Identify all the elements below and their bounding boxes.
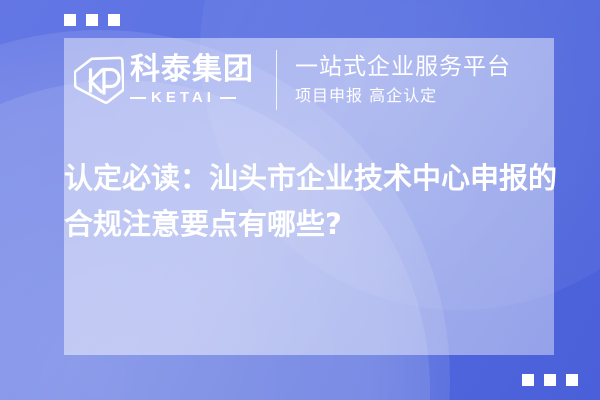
decorative-squares-bottom-right <box>522 374 578 386</box>
banner-canvas: 科泰集团 KETAI 一站式企业服务平台 项目申报 高企认定 认定必读：汕头市企… <box>0 0 600 400</box>
square-icon <box>522 374 534 386</box>
square-icon <box>108 14 120 26</box>
content-card: 科泰集团 KETAI 一站式企业服务平台 项目申报 高企认定 认定必读：汕头市企… <box>64 38 554 355</box>
brand-name-cn: 科泰集团 <box>130 55 254 85</box>
decorative-squares-top-left <box>64 14 120 26</box>
brand-name-en-row: KETAI <box>130 90 254 105</box>
tagline-block: 一站式企业服务平台 项目申报 高企认定 <box>295 54 511 105</box>
rule-left-icon <box>130 97 146 99</box>
brand-header: 科泰集团 KETAI 一站式企业服务平台 项目申报 高企认定 <box>74 46 511 114</box>
square-icon <box>544 374 556 386</box>
tagline: 一站式企业服务平台 <box>295 54 511 81</box>
brand-name-en: KETAI <box>151 90 215 105</box>
ketai-kd-monogram-icon <box>74 55 124 105</box>
rule-right-icon <box>220 97 236 99</box>
square-icon <box>64 14 76 26</box>
brand-wordmark: 科泰集团 KETAI <box>130 55 254 105</box>
square-icon <box>566 374 578 386</box>
subtagline: 项目申报 高企认定 <box>295 86 511 105</box>
header-divider <box>276 50 277 110</box>
article-title: 认定必读：汕头市企业技术中心申报的合规注意要点有哪些? <box>64 155 584 247</box>
square-icon <box>86 14 98 26</box>
